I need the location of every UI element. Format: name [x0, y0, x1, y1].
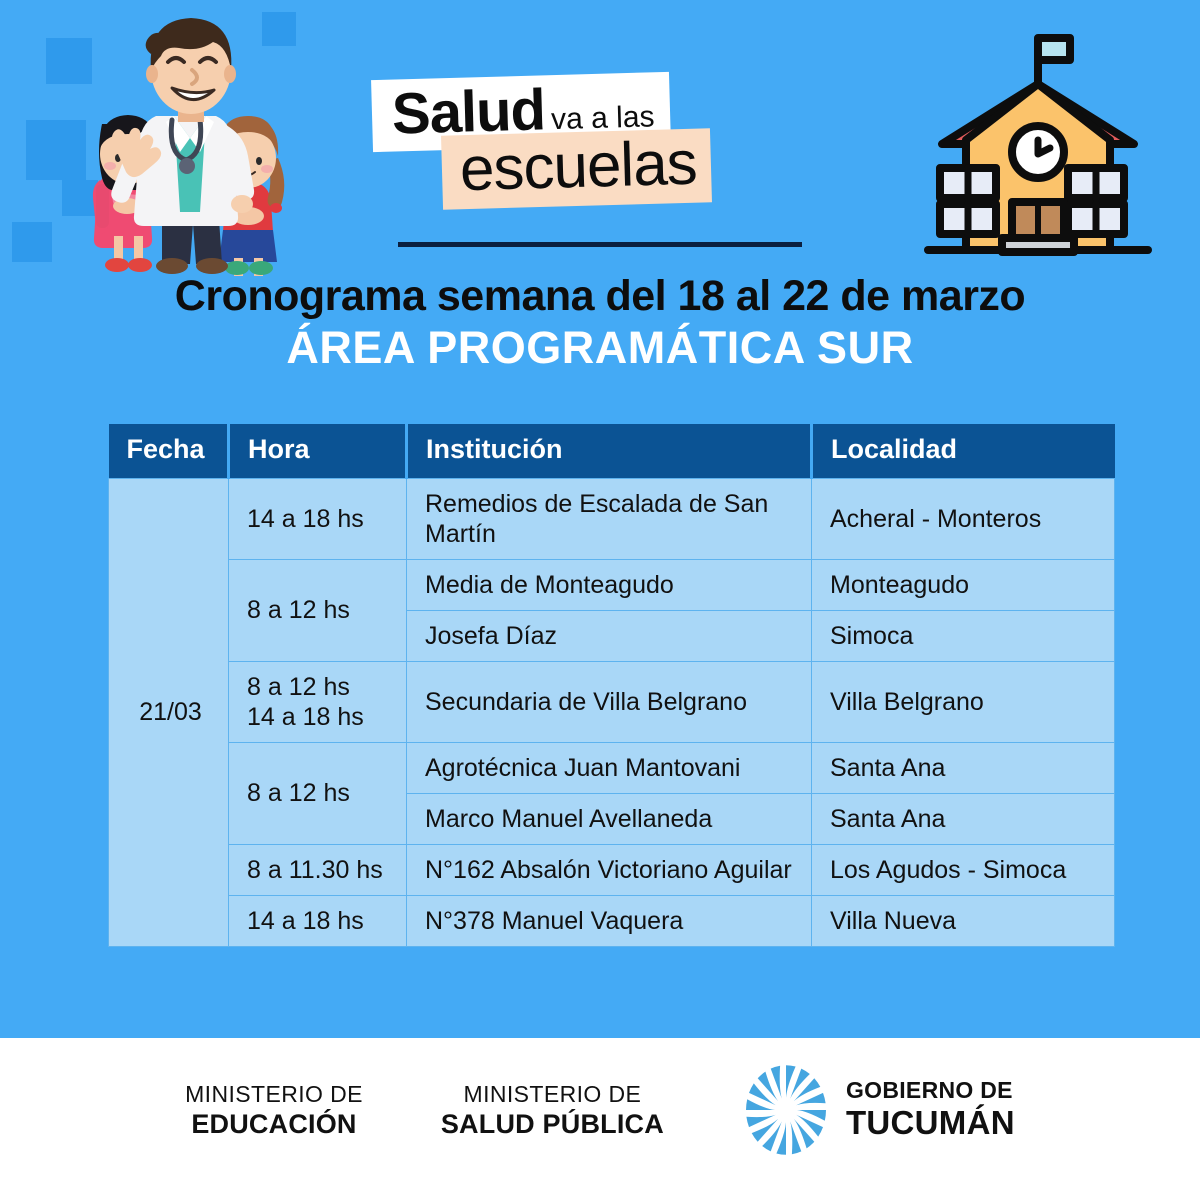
gobierno-line2: TUCUMÁN — [846, 1104, 1015, 1143]
campaign-logo: Saludva a las escuelas — [370, 72, 840, 232]
tucuman-sunburst-icon — [742, 1062, 830, 1158]
ministerio-educacion-line2: EDUCACIÓN — [185, 1108, 363, 1141]
logo-gobierno-tucuman: GOBIERNO DE TUCUMÁN — [742, 1062, 1015, 1158]
page-title: Cronograma semana del 18 al 22 de marzo — [0, 272, 1200, 321]
ministerio-salud-line1: MINISTERIO DE — [441, 1080, 664, 1108]
cell-localidad: Los Agudos - Simoca — [812, 844, 1115, 895]
cell-institucion: Marco Manuel Avellaneda — [407, 793, 812, 844]
cell-hora: 8 a 12 hs — [229, 742, 407, 844]
column-header-fecha: Fecha — [109, 424, 229, 478]
cell-institucion: N°378 Manuel Vaquera — [407, 895, 812, 946]
table-header-row: Fecha Hora Institución Localidad — [109, 424, 1115, 478]
table-row: 8 a 12 hsAgrotécnica Juan MantovaniSanta… — [109, 742, 1115, 793]
poster-root: Saludva a las escuelas — [0, 0, 1200, 1200]
table-body: 21/0314 a 18 hsRemedios de Escalada de S… — [109, 478, 1115, 946]
cell-hora: 8 a 11.30 hs — [229, 844, 407, 895]
cell-localidad: Villa Nueva — [812, 895, 1115, 946]
logo-underline-rule — [398, 242, 802, 247]
cell-hora: 14 a 18 hs — [229, 478, 407, 559]
column-header-institucion: Institución — [407, 424, 812, 478]
cell-localidad: Villa Belgrano — [812, 661, 1115, 742]
cell-institucion: Josefa Díaz — [407, 610, 812, 661]
logo-ministerio-salud-publica: MINISTERIO DE SALUD PÚBLICA — [441, 1080, 664, 1141]
ministerio-educacion-line1: MINISTERIO DE — [185, 1080, 363, 1108]
table-row: 8 a 12 hsMedia de MonteagudoMonteagudo — [109, 559, 1115, 610]
cell-institucion: Agrotécnica Juan Mantovani — [407, 742, 812, 793]
table-row: 21/0314 a 18 hsRemedios de Escalada de S… — [109, 478, 1115, 559]
logo-ministerio-educacion: MINISTERIO DE EDUCACIÓN — [185, 1080, 363, 1141]
cell-localidad: Santa Ana — [812, 742, 1115, 793]
doctor-and-children-illustration — [22, 8, 352, 276]
table-row: 14 a 18 hsN°378 Manuel VaqueraVilla Nuev… — [109, 895, 1115, 946]
table-row: 8 a 11.30 hsN°162 Absalón Victoriano Agu… — [109, 844, 1115, 895]
logo-word-escuelas: escuelas — [459, 129, 698, 205]
page-subtitle: ÁREA PROGRAMÁTICA SUR — [0, 322, 1200, 374]
cell-institucion: Remedios de Escalada de San Martín — [407, 478, 812, 559]
schedule-table-container: Fecha Hora Institución Localidad 21/0314… — [108, 424, 1114, 947]
cell-institucion: Media de Monteagudo — [407, 559, 812, 610]
table-header: Fecha Hora Institución Localidad — [109, 424, 1115, 478]
cell-localidad: Santa Ana — [812, 793, 1115, 844]
cell-institucion: N°162 Absalón Victoriano Aguilar — [407, 844, 812, 895]
cell-hora: 8 a 12 hs 14 a 18 hs — [229, 661, 407, 742]
cell-institucion: Secundaria de Villa Belgrano — [407, 661, 812, 742]
blue-background-panel: Saludva a las escuelas — [0, 0, 1200, 1038]
cell-localidad: Acheral - Monteros — [812, 478, 1115, 559]
cell-localidad: Monteagudo — [812, 559, 1115, 610]
cell-localidad: Simoca — [812, 610, 1115, 661]
logo-banner-peach: escuelas — [441, 128, 712, 209]
gobierno-line1: GOBIERNO DE — [846, 1077, 1015, 1104]
cell-hora: 8 a 12 hs — [229, 559, 407, 661]
column-header-hora: Hora — [229, 424, 407, 478]
schedule-table: Fecha Hora Institución Localidad 21/0314… — [108, 424, 1115, 947]
table-row: 8 a 12 hs 14 a 18 hsSecundaria de Villa … — [109, 661, 1115, 742]
column-header-localidad: Localidad — [812, 424, 1115, 478]
cell-hora: 14 a 18 hs — [229, 895, 407, 946]
school-building-icon — [898, 22, 1178, 272]
ministerio-salud-line2: SALUD PÚBLICA — [441, 1108, 664, 1141]
footer-bar: MINISTERIO DE EDUCACIÓN MINISTERIO DE SA… — [0, 1038, 1200, 1200]
cell-fecha: 21/03 — [109, 478, 229, 946]
